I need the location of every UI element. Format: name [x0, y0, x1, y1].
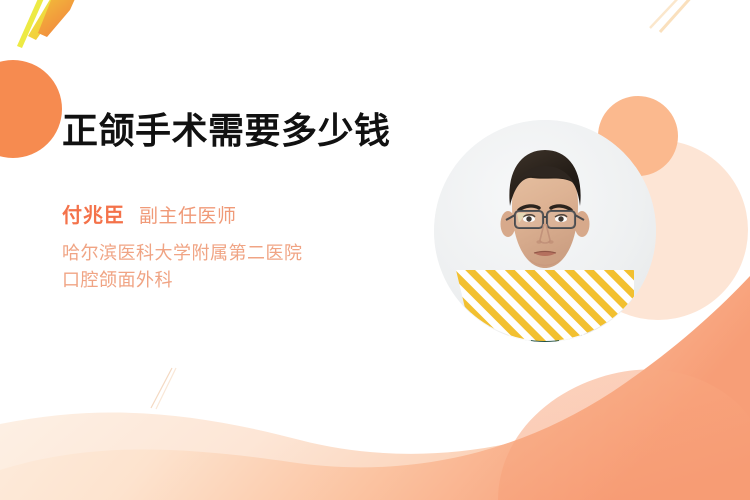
doctor-name: 付兆臣 — [62, 199, 125, 228]
doctor-photo-illustration — [434, 120, 656, 342]
doctor-identity: 付兆臣 副主任医师 — [62, 199, 412, 228]
doctor-portrait-circle — [434, 120, 656, 342]
page-title: 正颌手术需要多少钱 — [62, 108, 412, 154]
text-content: 正颌手术需要多少钱 付兆臣 副主任医师 哈尔滨医科大学附属第二医院 口腔颌面外科 — [62, 108, 412, 294]
doctor-hospital: 哈尔滨医科大学附属第二医院 — [62, 240, 412, 267]
doctor-department: 口腔颌面外科 — [62, 267, 412, 294]
doctor-rank: 副主任医师 — [139, 201, 237, 228]
doctor-qa-card: 正颌手术需要多少钱 付兆臣 副主任医师 哈尔滨医科大学附属第二医院 口腔颌面外科 — [0, 0, 750, 500]
doctor-portrait — [434, 120, 656, 342]
